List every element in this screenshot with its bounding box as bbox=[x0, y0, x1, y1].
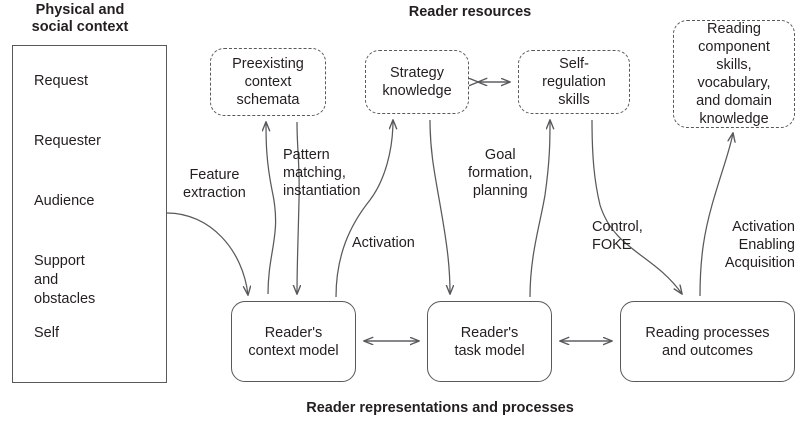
heading-reader-representations-and-processes: Reader representations and processes bbox=[250, 400, 630, 417]
node-readers-context-model: Reader's context model bbox=[231, 301, 356, 382]
node-reading-processes-and-outcomes: Reading processes and outcomes bbox=[620, 301, 795, 382]
edge-label-activation: Activation bbox=[352, 234, 415, 252]
context-item-audience: Audience bbox=[34, 192, 94, 211]
edge-label-control-foke: Control, FOKE bbox=[592, 218, 643, 254]
node-readers-task-model: Reader's task model bbox=[427, 301, 552, 382]
heading-physical-social-context: Physical and social context bbox=[0, 2, 160, 36]
node-self-regulation-skills: Self- regulation skills bbox=[518, 50, 630, 114]
diagram-canvas: Physical and social context Reader resou… bbox=[0, 0, 800, 425]
context-item-requester: Requester bbox=[34, 132, 101, 151]
context-item-request: Request bbox=[34, 72, 88, 91]
edge-goal-formation-up bbox=[530, 120, 550, 297]
node-reading-component-skills-vocabulary-domain-knowledge: Reading component skills, vocabulary, an… bbox=[673, 20, 795, 128]
context-item-support-and-obstacles: Support and obstacles bbox=[34, 252, 95, 309]
edge-strategy-down bbox=[430, 120, 450, 294]
edge-pattern-matching-up bbox=[266, 122, 276, 294]
physical-social-context-box: Request Requester Audience Support and o… bbox=[12, 45, 167, 383]
edge-feature-extraction bbox=[167, 213, 248, 295]
edge-label-feature-extraction: Feature extraction bbox=[183, 166, 246, 202]
edge-label-activation-enabling-acquisition: Activation Enabling Acquisition bbox=[707, 218, 795, 272]
edge-label-goal-formation-planning: Goal formation, planning bbox=[468, 146, 532, 200]
node-strategy-knowledge: Strategy knowledge bbox=[365, 50, 469, 114]
edge-control-foke-down bbox=[592, 120, 682, 294]
context-item-self: Self bbox=[34, 324, 59, 343]
node-preexisting-context-schemata: Preexisting context schemata bbox=[210, 48, 326, 116]
edge-label-pattern-matching-instantiation: Pattern matching, instantiation bbox=[283, 146, 360, 200]
heading-reader-resources: Reader resources bbox=[335, 4, 605, 21]
